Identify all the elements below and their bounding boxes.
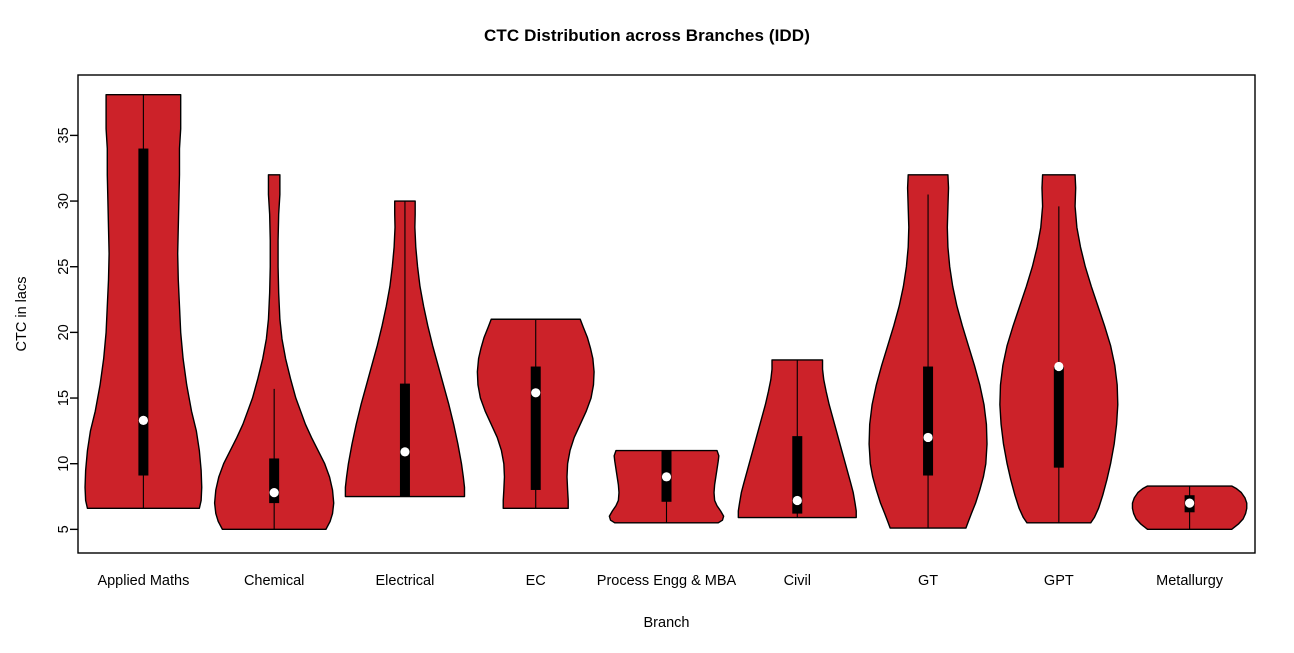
- violin-group: [345, 201, 464, 496]
- y-axis-tick-label: 10: [56, 456, 72, 472]
- x-axis-category-label: Metallurgy: [1156, 573, 1224, 589]
- x-axis-category-label: GT: [918, 573, 938, 589]
- x-axis-category-label: EC: [526, 573, 546, 589]
- x-axis-category-label: Electrical: [376, 573, 435, 589]
- y-axis-tick-label: 20: [56, 324, 72, 340]
- median-point[interactable]: [531, 388, 540, 397]
- iqr-box[interactable]: [400, 384, 410, 497]
- violin-group: [215, 175, 334, 530]
- x-axis-category-label: Process Engg & MBA: [597, 573, 737, 589]
- iqr-box[interactable]: [531, 367, 541, 490]
- x-axis-category-label: GPT: [1044, 573, 1074, 589]
- y-axis-tick-label: 35: [56, 127, 72, 143]
- iqr-box[interactable]: [1054, 367, 1064, 468]
- x-axis-title: Branch: [644, 615, 690, 631]
- median-point[interactable]: [662, 472, 671, 481]
- violin-group: [85, 95, 202, 509]
- y-axis-tick-label: 5: [56, 525, 72, 533]
- median-point[interactable]: [1185, 498, 1194, 507]
- violin-group: [738, 360, 856, 518]
- y-axis-title: CTC in lacs: [14, 277, 30, 352]
- y-axis-tick-label: 25: [56, 259, 72, 275]
- violin-group: [609, 451, 723, 523]
- violin-plot-figure: CTC Distribution across Branches (IDD) 5…: [0, 0, 1294, 653]
- iqr-box[interactable]: [138, 149, 148, 476]
- violin-group: [1132, 486, 1246, 529]
- median-point[interactable]: [270, 488, 279, 497]
- median-point[interactable]: [793, 496, 802, 505]
- violin-group: [869, 175, 987, 528]
- y-axis-tick-label: 30: [56, 193, 72, 209]
- x-axis-category-label: Chemical: [244, 573, 304, 589]
- x-axis-category-label: Civil: [784, 573, 811, 589]
- violin-group: [1000, 175, 1118, 523]
- median-point[interactable]: [400, 447, 409, 456]
- violin-group: [477, 319, 594, 508]
- median-point[interactable]: [139, 416, 148, 425]
- chart-canvas: 5101520253035CTC in lacsBranchApplied Ma…: [0, 0, 1294, 653]
- median-point[interactable]: [1054, 362, 1063, 371]
- y-axis-tick-label: 15: [56, 390, 72, 406]
- iqr-box[interactable]: [923, 367, 933, 476]
- x-axis-category-label: Applied Maths: [97, 573, 189, 589]
- median-point[interactable]: [923, 433, 932, 442]
